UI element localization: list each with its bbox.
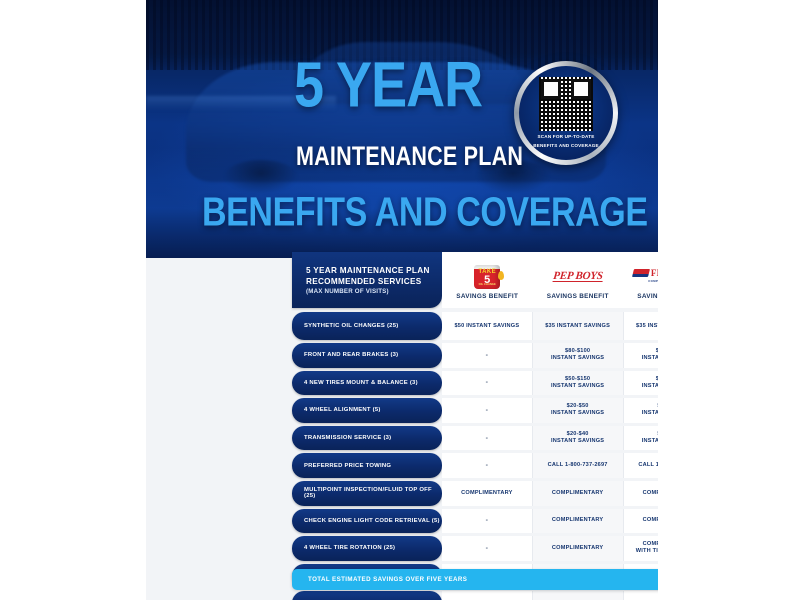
header-cell-services: 5 YEAR MAINTENANCE PLAN RECOMMENDED SERV… (292, 252, 442, 308)
header-cell-take5: TAKE 5 OIL CHANGE SAVINGS BENEFIT (442, 252, 533, 308)
cell-line: INSTANT SAVINGS (551, 410, 604, 417)
row-cell-firestone: $35 INSTANT SAVINGS (624, 312, 659, 340)
cell-line: $35 INSTANT SAVINGS (636, 323, 658, 330)
cell-line: $20-$40 (567, 431, 589, 438)
cell-line: INSTANT SAVINGS (551, 355, 604, 362)
cell-line: $20-$50 (657, 403, 658, 410)
flyer-sheet: 5 YEAR MAINTENANCE PLAN BENEFITS AND COV… (146, 0, 658, 600)
row-cell-take5: - (442, 371, 533, 396)
cell-line: $20-$40 (657, 431, 658, 438)
row-service-name: CHECK ENGINE LIGHT CODE RETRIEVAL (5) (292, 509, 442, 534)
header-cell-firestone: Firestone COMPLETE AUTO CARE SAVINGS BEN… (623, 252, 658, 308)
not-available-dash: - (486, 517, 489, 524)
not-available-dash: - (486, 462, 489, 469)
table-row: PREFERRED PRICE TOWING-CALL 1-800-737-26… (292, 453, 658, 478)
cell-line: CALL 1-800-737-2697 (548, 462, 608, 469)
table-row: 4 WHEEL TIRE ROTATION (25)-COMPLIMENTARY… (292, 536, 658, 561)
row-service-name: 4 WHEEL ALIGNMENT (5) (292, 398, 442, 423)
firestone-logo-text: Firestone (651, 270, 658, 277)
header-services-line-2: RECOMMENDED SERVICES (306, 277, 422, 286)
table-row: 4 NEW TIRES MOUNT & BALANCE (3)-$50-$150… (292, 371, 658, 396)
row-cell-take5: - (442, 398, 533, 423)
not-available-dash: - (486, 545, 489, 552)
row-service-name: 4 NEW TIRES MOUNT & BALANCE (3) (292, 371, 442, 396)
row-cell-firestone: COMPLIMENTARY (624, 509, 659, 534)
row-cell-firestone: $20-$50INSTANT SAVINGS (624, 398, 659, 423)
row-cell-take5: - (442, 453, 533, 478)
not-available-dash: - (486, 379, 489, 386)
table-row: 4 WHEEL ALIGNMENT (5)-$20-$50INSTANT SAV… (292, 398, 658, 423)
row-cell-take5: - (442, 426, 533, 451)
row-service-name: MULTIPOINT INSPECTION/FLUID TOP OFF (25) (292, 481, 442, 506)
table-header-row: 5 YEAR MAINTENANCE PLAN RECOMMENDED SERV… (292, 252, 658, 308)
cell-line: $50-$150 (565, 376, 590, 383)
pep-boys-logo-text: Pep Boys (552, 273, 603, 282)
row-cell-take5: 30% (442, 591, 533, 600)
header-pepboys-subtitle: SAVINGS BENEFIT (547, 293, 609, 300)
qr-caption-line-1: SCAN FOR UP-TO-DATE (538, 134, 595, 140)
cell-line: $35 INSTANT SAVINGS (545, 323, 610, 330)
cell-line: $80-$100 (565, 348, 590, 355)
hero-subtitle-maintenance-plan: MAINTENANCE PLAN (296, 143, 523, 170)
row-cell-pepboys: COMPLIMENTARY (533, 509, 624, 534)
header-services-line-1: 5 YEAR MAINTENANCE PLAN (306, 266, 430, 275)
row-cell-take5: - (442, 343, 533, 368)
hero-banner: 5 YEAR MAINTENANCE PLAN BENEFITS AND COV… (146, 0, 658, 258)
cell-line: $20-$50 (567, 403, 589, 410)
cell-line: $80-$100 (656, 348, 658, 355)
row-service-name: SYNTHETIC OIL CHANGES (25) (292, 312, 442, 340)
table-row: MULTIPOINT INSPECTION/FLUID TOP OFF (25)… (292, 481, 658, 506)
cell-line: INSTANT SAVINGS (642, 438, 658, 445)
qr-caption-line-2: BENEFITS AND COVERAGE (533, 143, 599, 149)
page-root: 5 YEAR MAINTENANCE PLAN BENEFITS AND COV… (0, 0, 800, 600)
row-cell-firestone: COMPLIMENTARYWITH TIRE PURCHASE (624, 536, 659, 561)
cell-line: COMPLIMENTARY (552, 545, 603, 552)
header-cell-pepboys: Pep Boys SAVINGS BENEFIT (533, 252, 624, 308)
not-available-dash: - (486, 407, 489, 414)
row-cell-take5: - (442, 509, 533, 534)
header-services-line-3: (MAX NUMBER OF VISITS) (306, 288, 389, 295)
row-service-name: FRONT AND REAR BRAKES (3) (292, 343, 442, 368)
table-row: CHECK ENGINE LIGHT CODE RETRIEVAL (5)-CO… (292, 509, 658, 534)
cell-line: INSTANT SAVINGS (551, 383, 604, 390)
row-cell-take5: - (442, 536, 533, 561)
row-cell-pepboys: CALL 1-800-737-2697 (533, 453, 624, 478)
row-cell-firestone: 10% - 40% (624, 591, 659, 600)
total-savings-bar: TOTAL ESTIMATED SAVINGS OVER FIVE YEARS … (292, 569, 658, 590)
not-available-dash: - (486, 352, 489, 359)
qr-code-icon (539, 77, 593, 131)
row-service-name: ADDITIONAL PARTS, SERVICES & REPAIRS (292, 591, 442, 600)
total-savings-label: TOTAL ESTIMATED SAVINGS OVER FIVE YEARS (308, 576, 467, 583)
take-5-oil-change-logo-icon: TAKE 5 OIL CHANGE (474, 264, 500, 290)
header-firestone-subtitle: SAVINGS BENEFIT (637, 293, 658, 300)
row-cell-firestone: $80-$100INSTANT SAVINGS (624, 343, 659, 368)
cell-line: $50-$150 (656, 376, 658, 383)
cell-line: COMPLIMENTARY (643, 490, 658, 497)
row-cell-firestone: CALL 1-800-752-0379 (624, 453, 659, 478)
hero-copy: 5 YEAR MAINTENANCE PLAN BENEFITS AND COV… (146, 0, 658, 258)
hero-title-5-year: 5 YEAR (294, 56, 482, 115)
pep-boys-logo-icon: Pep Boys (553, 264, 603, 290)
firestone-mark-icon (632, 269, 650, 277)
qr-code-badge[interactable]: SCAN FOR UP-TO-DATE BENEFITS AND COVERAG… (514, 61, 618, 165)
row-cell-take5: $50 INSTANT SAVINGS (442, 312, 533, 340)
row-cell-pepboys: 10% - 40% (533, 591, 624, 600)
not-available-dash: - (486, 435, 489, 442)
row-service-name: PREFERRED PRICE TOWING (292, 453, 442, 478)
table-row: SYNTHETIC OIL CHANGES (25)$50 INSTANT SA… (292, 312, 658, 340)
cell-line: COMPLIMENTARY (643, 517, 658, 524)
row-cell-pepboys: $20-$40INSTANT SAVINGS (533, 426, 624, 451)
table-row: ADDITIONAL PARTS, SERVICES & REPAIRS30%1… (292, 591, 658, 600)
cell-line: INSTANT SAVINGS (642, 410, 658, 417)
hero-title-benefits-and-coverage: BENEFITS AND COVERAGE (202, 192, 602, 233)
row-service-name: 4 WHEEL TIRE ROTATION (25) (292, 536, 442, 561)
row-cell-firestone: $50-$150INSTANT SAVINGS (624, 371, 659, 396)
qr-badge-inner: SCAN FOR UP-TO-DATE BENEFITS AND COVERAG… (519, 66, 613, 160)
row-cell-pepboys: COMPLIMENTARY (533, 536, 624, 561)
take-5-logo-text-bottom: OIL CHANGE (475, 281, 499, 288)
cell-line: COMPLIMENTARY (461, 490, 512, 497)
row-cell-pepboys: $50-$150INSTANT SAVINGS (533, 371, 624, 396)
cell-line: INSTANT SAVINGS (642, 355, 658, 362)
cell-line: COMPLIMENTARY (643, 541, 658, 548)
cell-line: CALL 1-800-752-0379 (638, 462, 658, 469)
firestone-logo-icon: Firestone COMPLETE AUTO CARE (633, 264, 658, 290)
cell-line: COMPLIMENTARY (552, 517, 603, 524)
row-cell-firestone: COMPLIMENTARY (624, 481, 659, 506)
cell-line: $50 INSTANT SAVINGS (454, 323, 519, 330)
benefits-table: 5 YEAR MAINTENANCE PLAN RECOMMENDED SERV… (292, 252, 658, 600)
row-cell-pepboys: COMPLIMENTARY (533, 481, 624, 506)
row-cell-firestone: $20-$40INSTANT SAVINGS (624, 426, 659, 451)
row-cell-pepboys: $80-$100INSTANT SAVINGS (533, 343, 624, 368)
table-row: TRANSMISSION SERVICE (3)-$20-$40INSTANT … (292, 426, 658, 451)
header-take5-subtitle: SAVINGS BENEFIT (456, 293, 518, 300)
cell-line: INSTANT SAVINGS (642, 383, 658, 390)
cell-line: WITH TIRE PURCHASE (636, 548, 658, 555)
row-cell-pepboys: $35 INSTANT SAVINGS (533, 312, 624, 340)
table-row: FRONT AND REAR BRAKES (3)-$80-$100INSTAN… (292, 343, 658, 368)
row-service-name: TRANSMISSION SERVICE (3) (292, 426, 442, 451)
row-cell-pepboys: $20-$50INSTANT SAVINGS (533, 398, 624, 423)
firestone-logo-tagline: COMPLETE AUTO CARE (648, 278, 658, 285)
cell-line: INSTANT SAVINGS (551, 438, 604, 445)
cell-line: COMPLIMENTARY (552, 490, 603, 497)
table-body: SYNTHETIC OIL CHANGES (25)$50 INSTANT SA… (292, 312, 658, 600)
oil-drip-icon (498, 271, 504, 280)
row-cell-take5: COMPLIMENTARY (442, 481, 533, 506)
